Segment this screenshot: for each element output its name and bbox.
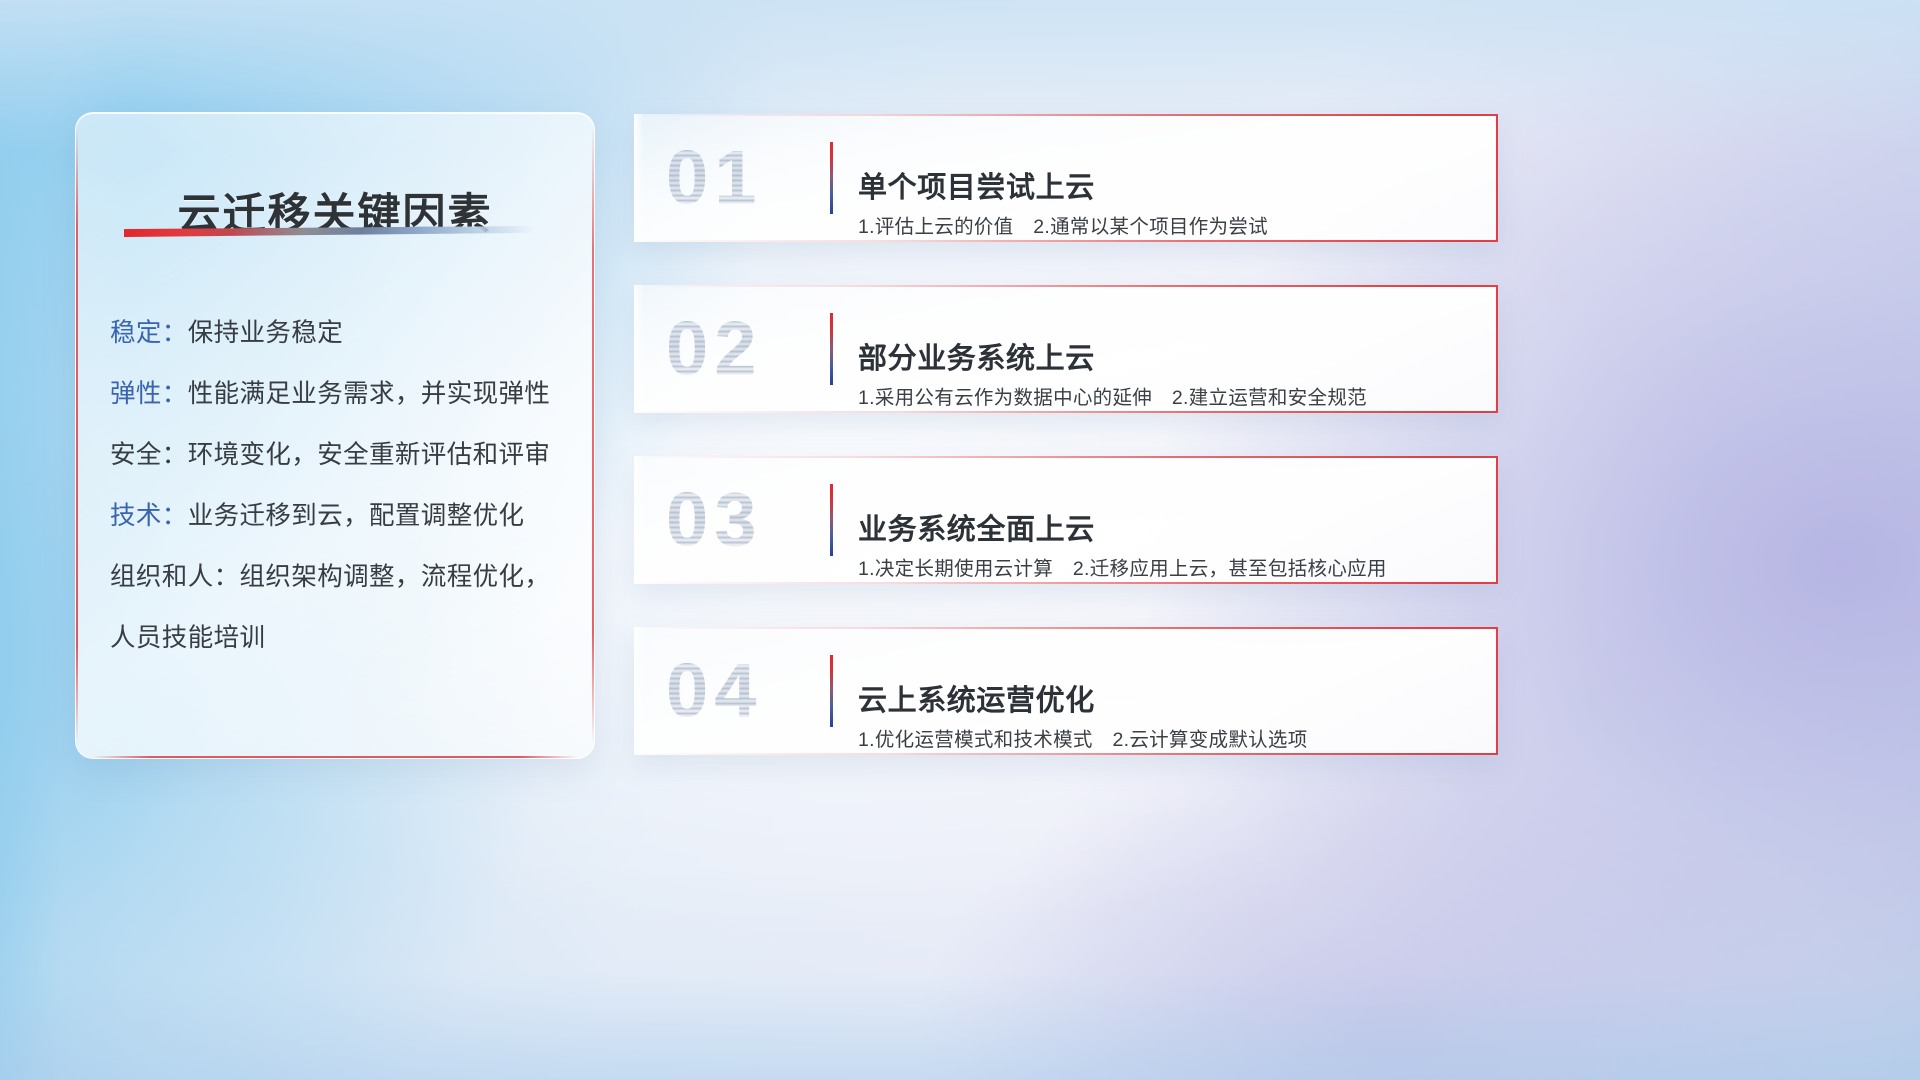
stage-card-04[interactable]: 04 云上系统运营优化 1.优化运营模式和技术模式 2.云计算变成默认选项 [634, 627, 1498, 755]
key-factors-panel: 云迁移关键因素 稳定：保持业务稳定 弹性：性能满足业务需求，并实现弹性 安全：环… [75, 112, 595, 759]
card-bottom-accent [634, 582, 1498, 584]
stage-description: 1.采用公有云作为数据中心的延伸 2.建立运营和安全规范 [858, 381, 1367, 410]
card-top-accent [634, 456, 1498, 458]
card-left-sheen [634, 627, 644, 755]
stage-heading: 云上系统运营优化 [858, 677, 1095, 719]
list-item-label: 弹性： [110, 380, 188, 408]
stage-number: 04 [666, 648, 763, 735]
stage-card-01[interactable]: 01 单个项目尝试上云 1.评估上云的价值 2.通常以某个项目作为尝试 [634, 114, 1498, 242]
card-divider-bar [830, 655, 833, 727]
list-item-text: 环境变化，安全重新评估和评审 [188, 441, 551, 469]
list-item-label: 安全： [110, 441, 188, 469]
stage-card-02[interactable]: 02 部分业务系统上云 1.采用公有云作为数据中心的延伸 2.建立运营和安全规范 [634, 285, 1498, 413]
card-right-accent [1496, 456, 1498, 584]
stage-heading: 部分业务系统上云 [858, 335, 1095, 377]
list-item-text: 人员技能培训 [110, 624, 265, 652]
list-item-label: 稳定： [110, 319, 188, 347]
list-item-text: 组织架构调整，流程优化， [240, 563, 551, 591]
list-item: 技术：业务迁移到云，配置调整优化 [110, 486, 572, 547]
card-top-accent [634, 627, 1498, 629]
card-right-accent [1496, 285, 1498, 413]
list-item-text: 保持业务稳定 [188, 319, 343, 347]
stage-description: 1.评估上云的价值 2.通常以某个项目作为尝试 [858, 210, 1268, 239]
card-left-sheen [634, 456, 644, 584]
stage-description: 1.决定长期使用云计算 2.迁移应用上云，甚至包括核心应用 [858, 552, 1387, 581]
list-item-text: 业务迁移到云，配置调整优化 [188, 502, 525, 530]
stage-number: 03 [666, 477, 763, 564]
card-bottom-accent [634, 753, 1498, 755]
card-divider-bar [830, 484, 833, 556]
stage-number: 02 [666, 306, 763, 393]
card-left-sheen [634, 285, 644, 413]
stage-description: 1.优化运营模式和技术模式 2.云计算变成默认选项 [858, 723, 1308, 752]
list-item: 弹性：性能满足业务需求，并实现弹性 [110, 364, 572, 425]
card-right-accent [1496, 627, 1498, 755]
key-factors-list: 稳定：保持业务稳定 弹性：性能满足业务需求，并实现弹性 安全：环境变化，安全重新… [110, 303, 572, 669]
stage-heading: 单个项目尝试上云 [858, 164, 1095, 206]
card-top-accent [634, 114, 1498, 116]
panel-bottom-accent-border [92, 756, 578, 758]
list-item-text: 性能满足业务需求，并实现弹性 [188, 380, 551, 408]
stage-heading: 业务系统全面上云 [858, 506, 1095, 548]
card-divider-bar [830, 142, 833, 214]
card-right-accent [1496, 114, 1498, 242]
stage-card-03[interactable]: 03 业务系统全面上云 1.决定长期使用云计算 2.迁移应用上云，甚至包括核心应… [634, 456, 1498, 584]
list-item: 稳定：保持业务稳定 [110, 303, 572, 364]
card-divider-bar [830, 313, 833, 385]
card-bottom-accent [634, 411, 1498, 413]
list-item: 人员技能培训 [110, 608, 572, 669]
card-bottom-accent [634, 240, 1498, 242]
card-left-sheen [634, 114, 644, 242]
list-item-label: 技术： [110, 502, 188, 530]
list-item: 安全：环境变化，安全重新评估和评审 [110, 425, 572, 486]
card-top-accent [634, 285, 1498, 287]
stage-number: 01 [666, 135, 763, 222]
list-item-label: 组织和人： [110, 563, 240, 591]
list-item: 组织和人：组织架构调整，流程优化， [110, 547, 572, 608]
